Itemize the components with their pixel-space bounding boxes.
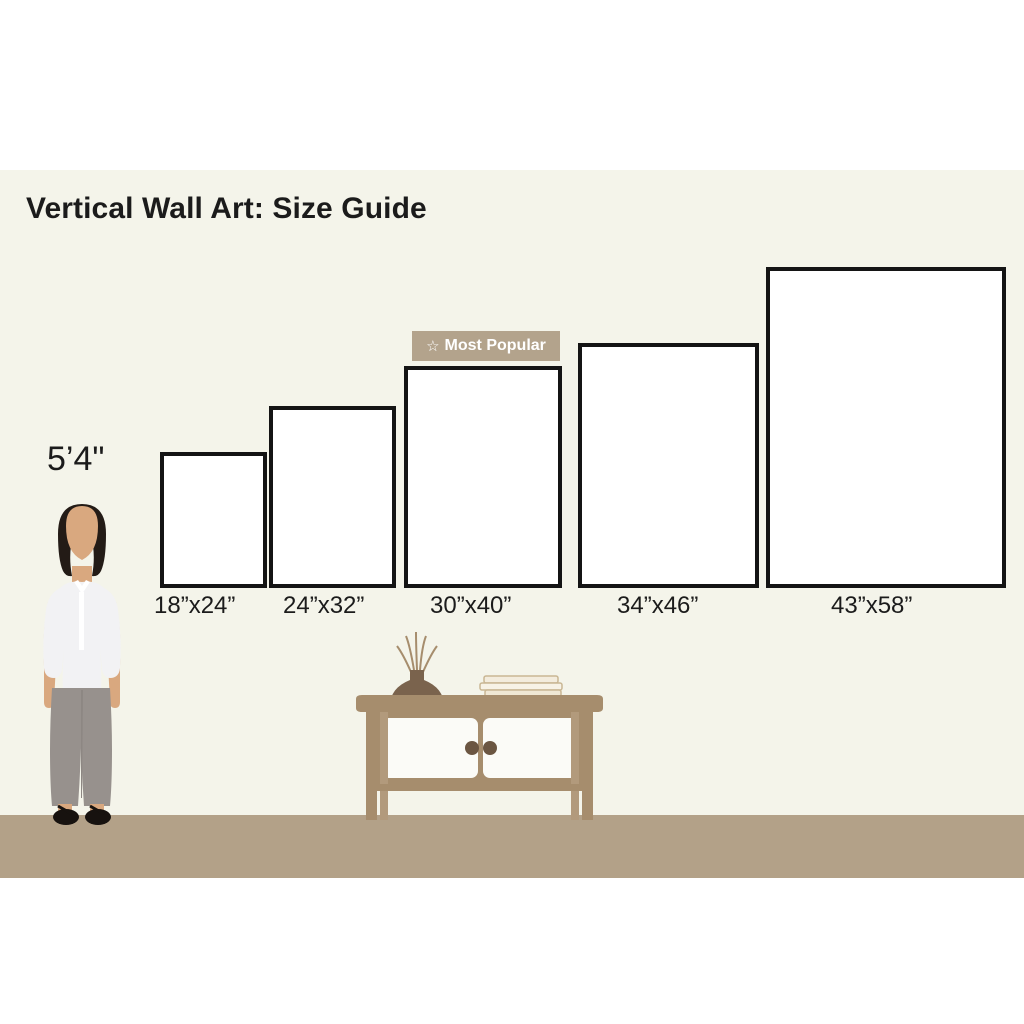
frame-label-34x46: 34”x46” bbox=[617, 592, 698, 620]
frame-label-43x58: 43”x58” bbox=[831, 592, 912, 620]
woman-figure bbox=[22, 498, 142, 828]
book-stack bbox=[480, 676, 562, 697]
frame-43x58[interactable] bbox=[766, 267, 1006, 588]
most-popular-badge[interactable]: ☆ Most Popular bbox=[412, 331, 560, 361]
page-title: Vertical Wall Art: Size Guide bbox=[26, 192, 427, 226]
star-icon: ☆ bbox=[426, 339, 439, 354]
knob-right bbox=[483, 741, 497, 755]
console-table bbox=[352, 620, 607, 820]
reed-stems bbox=[397, 632, 437, 672]
frame-label-18x24: 18”x24” bbox=[154, 592, 235, 620]
frame-34x46[interactable] bbox=[578, 343, 759, 588]
leg-back-left bbox=[380, 712, 388, 820]
cabinet-door-right bbox=[483, 718, 579, 778]
floor-band bbox=[0, 815, 1024, 878]
table-top bbox=[356, 695, 603, 712]
cabinet-door-left bbox=[382, 718, 478, 778]
frame-label-30x40: 30”x40” bbox=[430, 592, 511, 620]
frame-label-24x32: 24”x32” bbox=[283, 592, 364, 620]
frame-30x40[interactable] bbox=[404, 366, 562, 588]
most-popular-badge-label: Most Popular bbox=[445, 337, 546, 355]
size-guide-infographic: Vertical Wall Art: Size Guide 5’4" 18”x2… bbox=[0, 0, 1024, 1024]
stretcher bbox=[366, 784, 593, 791]
placket bbox=[79, 592, 84, 650]
face bbox=[66, 506, 98, 560]
human-height-label: 5’4" bbox=[47, 440, 104, 479]
frame-24x32[interactable] bbox=[269, 406, 396, 588]
knob-left bbox=[465, 741, 479, 755]
frame-18x24[interactable] bbox=[160, 452, 267, 588]
leg-back-right bbox=[571, 712, 579, 820]
